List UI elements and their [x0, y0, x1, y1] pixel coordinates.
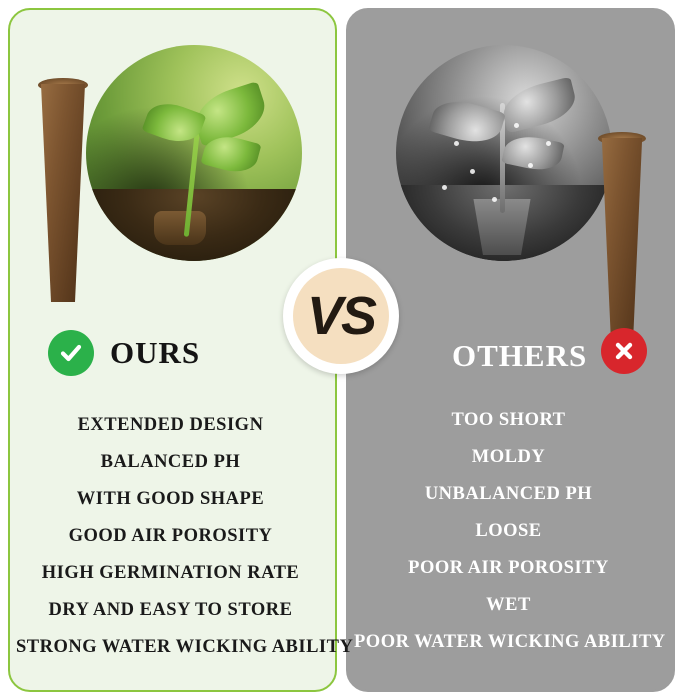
list-item: WET: [354, 595, 663, 616]
list-item: DRY AND EASY TO STORE: [16, 600, 325, 621]
list-item: TOO SHORT: [354, 410, 663, 431]
list-item: GOOD AIR POROSITY: [16, 526, 325, 547]
leaf-icon: [501, 131, 564, 174]
check-icon: [48, 330, 94, 376]
plug-in-soil-ours: [154, 211, 206, 245]
water-drop-icon: [546, 141, 551, 146]
water-drop-icon: [492, 197, 497, 202]
comparison-infographic: VS OURS OTHERS EXTENDED DESIGN BALANCED …: [0, 0, 679, 696]
list-item: POOR AIR POROSITY: [354, 558, 663, 579]
list-item: UNBALANCED PH: [354, 484, 663, 505]
title-row-others: OTHERS: [452, 338, 587, 374]
title-ours-label: OURS: [110, 335, 200, 371]
vs-badge: VS: [283, 258, 399, 374]
photo-ours: [86, 45, 302, 261]
water-drop-icon: [528, 163, 533, 168]
water-drop-icon: [514, 123, 519, 128]
list-item: STRONG WATER WICKING ABILITY: [16, 637, 325, 658]
feature-list-ours: EXTENDED DESIGN BALANCED PH WITH GOOD SH…: [16, 415, 325, 674]
water-drop-icon: [454, 141, 459, 146]
photo-others: [396, 45, 612, 261]
water-drop-icon: [470, 169, 475, 174]
leaf-icon: [498, 77, 579, 134]
water-drop-icon: [442, 185, 447, 190]
vs-label: VS: [307, 289, 375, 343]
list-item: EXTENDED DESIGN: [16, 415, 325, 436]
cross-icon: [601, 328, 647, 374]
list-item: POOR WATER WICKING ABILITY: [354, 632, 663, 653]
list-item: MOLDY: [354, 447, 663, 468]
vs-badge-inner: VS: [293, 268, 389, 364]
list-item: HIGH GERMINATION RATE: [16, 563, 325, 584]
title-others-label: OTHERS: [452, 338, 587, 374]
title-row-ours: OURS: [48, 330, 200, 376]
leaf-icon: [428, 94, 506, 150]
list-item: WITH GOOD SHAPE: [16, 489, 325, 510]
list-item: LOOSE: [354, 521, 663, 542]
feature-list-others: TOO SHORT MOLDY UNBALANCED PH LOOSE POOR…: [354, 410, 663, 669]
list-item: BALANCED PH: [16, 452, 325, 473]
